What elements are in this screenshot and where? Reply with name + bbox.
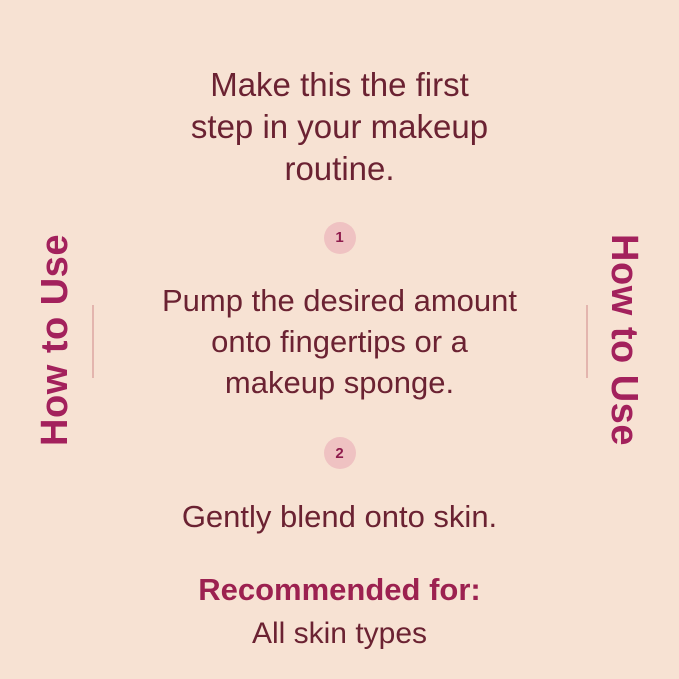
how-to-use-card: How to Use How to Use Make this the firs… (0, 0, 679, 679)
content-column: Make this the first step in your makeup … (110, 0, 569, 679)
step-text-1: Pump the desired amount onto fingertips … (160, 281, 520, 404)
right-rail-divider (586, 305, 588, 378)
left-rail-divider (92, 305, 94, 378)
recommended-value: All skin types (198, 614, 480, 653)
step-text-2: Gently blend onto skin. (182, 497, 497, 538)
side-label-right: How to Use (605, 234, 643, 446)
recommended-block: Recommended for: All skin types (198, 571, 480, 653)
step-number-badge-2: 2 (324, 437, 356, 469)
side-label-left: How to Use (36, 234, 74, 446)
step-number-badge-1: 1 (324, 222, 356, 254)
recommended-title: Recommended for: (198, 571, 480, 610)
intro-text: Make this the first step in your makeup … (175, 64, 505, 191)
